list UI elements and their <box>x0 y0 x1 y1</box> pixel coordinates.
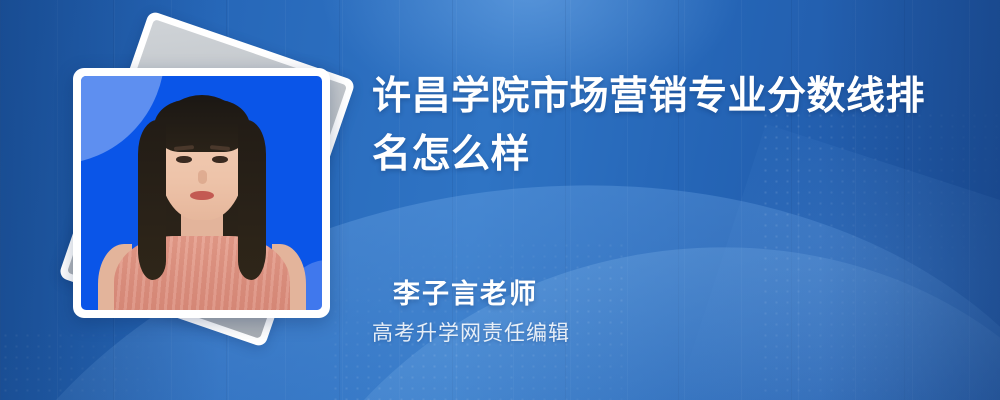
portrait-hair-right <box>238 120 266 280</box>
author-role: 高考升学网责任编辑 <box>372 317 570 347</box>
author-name: 李子言老师 <box>393 272 538 311</box>
text-column: 许昌学院市场营销专业分数线排名怎么样 李子言老师 高考升学网责任编辑 <box>372 0 972 400</box>
front-photo-card <box>73 68 330 318</box>
portrait-hair-left <box>138 120 166 280</box>
portrait-hair-fringe <box>154 100 250 152</box>
page-title: 许昌学院市场营销专业分数线排名怎么样 <box>372 68 952 184</box>
photo-stack <box>40 28 340 368</box>
article-header-banner: 许昌学院市场营销专业分数线排名怎么样 李子言老师 高考升学网责任编辑 <box>0 0 1000 400</box>
portrait-eye-left <box>176 156 192 163</box>
portrait-nose <box>198 170 207 184</box>
portrait-photo <box>81 76 322 310</box>
portrait-lips <box>190 191 214 200</box>
avatar <box>81 76 322 310</box>
portrait-eye-right <box>212 156 228 163</box>
